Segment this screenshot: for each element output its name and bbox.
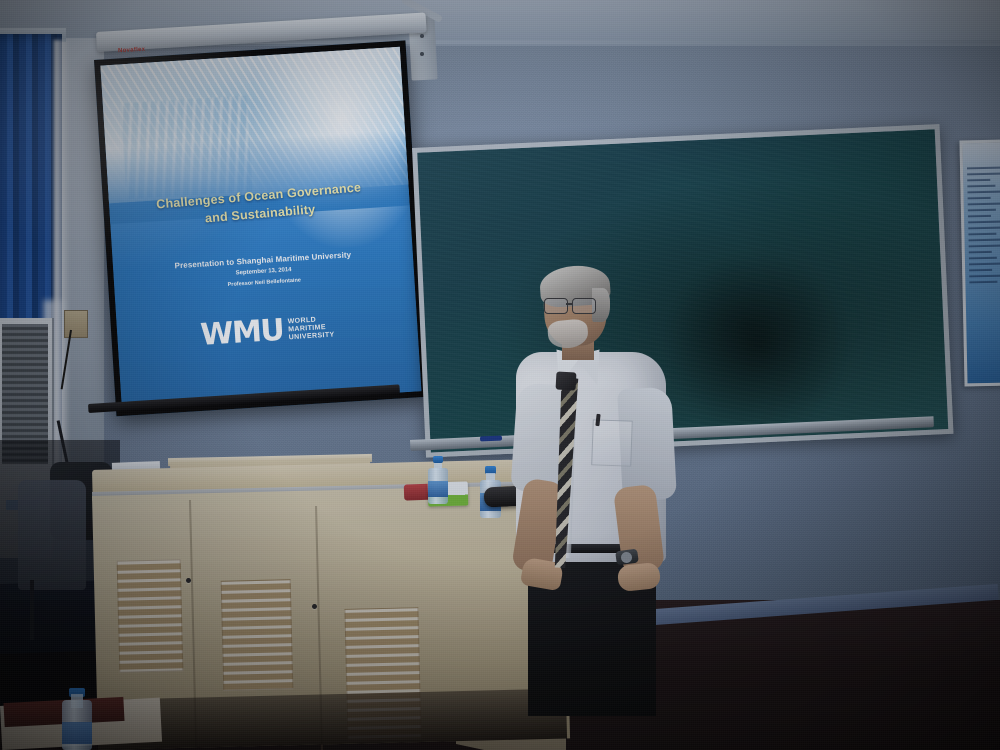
foreground-water-bottle[interactable] <box>62 688 92 750</box>
projection-screen: Challenges of Ocean Governance and Susta… <box>94 40 428 416</box>
bracket-screw-icon <box>420 34 424 38</box>
chair <box>18 480 86 590</box>
wall-socket <box>64 310 88 338</box>
lecture-hall-photo: Novaflex Challenges of Ocean Governance … <box>0 0 1000 750</box>
lock-icon[interactable] <box>312 604 317 609</box>
lock-icon[interactable] <box>186 578 191 583</box>
wmu-logo-text: WORLD MARITIME UNIVERSITY <box>288 316 335 343</box>
eyeglasses-icon <box>544 298 602 313</box>
eyeglass-lens-left <box>544 298 568 314</box>
chalk-marker <box>480 436 502 442</box>
lectern-vent-panel <box>117 559 184 673</box>
bottle-label <box>428 481 448 497</box>
wmu-logo-line3: UNIVERSITY <box>289 332 335 343</box>
water-bottle[interactable] <box>428 456 448 504</box>
bottle-label <box>62 722 92 744</box>
lectern-vent-panel <box>221 579 294 691</box>
wall-poster <box>959 140 1000 387</box>
presentation-slide: Challenges of Ocean Governance and Susta… <box>100 47 421 410</box>
bracket-screw-icon <box>420 52 424 56</box>
eyeglass-lens-right <box>572 298 596 314</box>
slide-subtitle-block: Presentation to Shanghai Maritime Univer… <box>125 247 402 294</box>
presenter <box>500 268 700 708</box>
tie-knot <box>556 371 577 390</box>
wmu-logo: WMU WORLD MARITIME UNIVERSITY <box>200 314 335 350</box>
shirt-pocket <box>591 419 633 466</box>
wmu-wordmark: WMU <box>200 317 284 350</box>
poster-text-lines <box>967 167 1000 284</box>
chair-leg <box>30 580 34 640</box>
